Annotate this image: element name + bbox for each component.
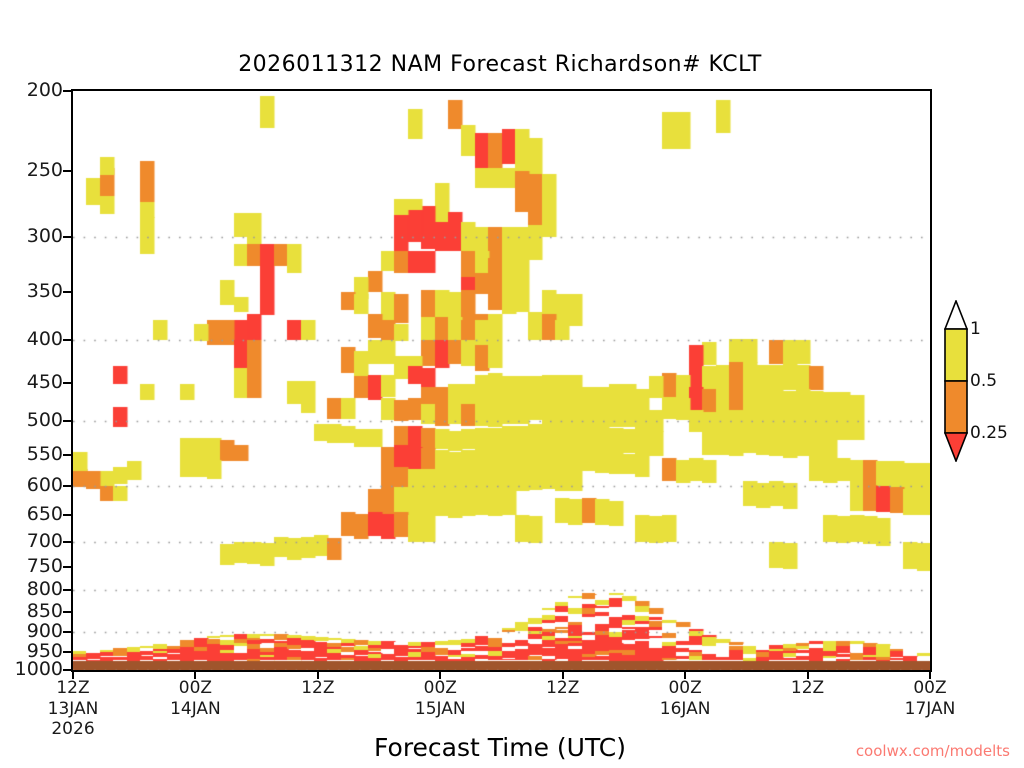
colorbar-band-yellow [945, 329, 967, 381]
colorbar-label: 1 [970, 321, 981, 338]
x-tick-time: 12Z [791, 678, 824, 698]
colorbar-label: 0.25 [970, 425, 1008, 442]
x-tick-label: 12Z [301, 678, 334, 699]
watermark: coolwx.com/modelts [856, 742, 1010, 760]
x-tick-time: 00Z [913, 678, 946, 698]
x-tick-time: 12Z [56, 678, 89, 698]
x-tick-date: 14JAN [170, 699, 221, 720]
colorbar: 10.50.25 [944, 300, 966, 460]
x-tick-label: 12Z [546, 678, 579, 699]
x-tick-label: 00Z16JAN [660, 678, 711, 719]
x-tick-label: 12Z [791, 678, 824, 699]
colorbar-label: 0.5 [970, 373, 997, 390]
chart-root: 2026011312 NAM Forecast Richardson# KCLT… [0, 0, 1024, 768]
colorbar-band-orange [945, 381, 967, 433]
x-tick-label: 00Z14JAN [170, 678, 221, 719]
x-axis: 12Z13JAN202600Z14JAN12Z00Z15JAN12Z00Z16J… [0, 0, 1024, 768]
x-tick-time: 12Z [301, 678, 334, 698]
colorbar-band-above-1 [945, 301, 967, 329]
x-tick-time: 00Z [424, 678, 457, 698]
x-tick-time: 12Z [546, 678, 579, 698]
x-tick-date: 13JAN [48, 699, 99, 720]
x-tick-time: 00Z [668, 678, 701, 698]
x-tick-time: 00Z [179, 678, 212, 698]
x-tick-date: 16JAN [660, 699, 711, 720]
x-tick-label: 00Z17JAN [905, 678, 956, 719]
x-tick-label: 12Z13JAN2026 [48, 678, 99, 740]
x-tick-date: 17JAN [905, 699, 956, 720]
x-tick-label: 00Z15JAN [415, 678, 466, 719]
colorbar-swatches [944, 300, 968, 462]
colorbar-band-red [945, 433, 967, 461]
x-axis-title-text: Forecast Time (UTC) [374, 733, 626, 762]
x-tick-date: 15JAN [415, 699, 466, 720]
